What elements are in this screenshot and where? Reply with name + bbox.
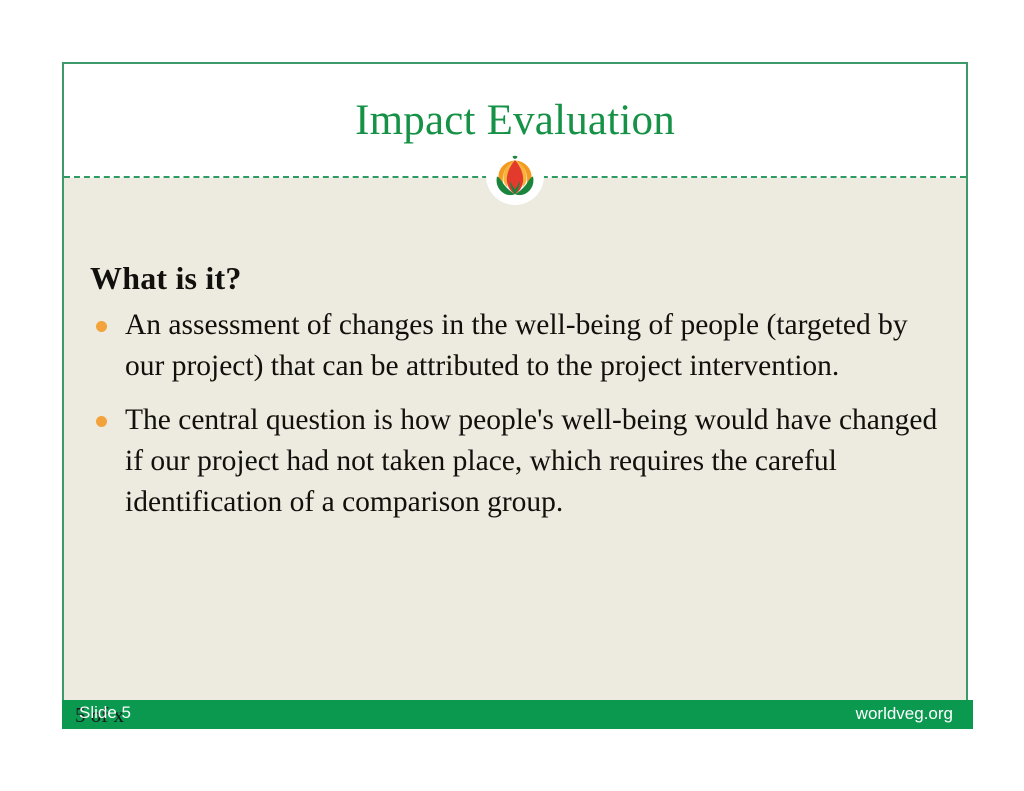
footer-bar: 5 of x Slide 5 worldveg.org <box>62 700 973 729</box>
body-panel: What is it? An assessment of changes in … <box>64 178 966 724</box>
slide-frame: Impact Evaluation What is it? An assessm… <box>62 62 968 726</box>
list-item: An assessment of changes in the well-bei… <box>90 305 940 388</box>
content-heading: What is it? <box>90 260 940 297</box>
content-area: What is it? An assessment of changes in … <box>90 260 940 535</box>
bullet-list: An assessment of changes in the well-bei… <box>90 305 940 523</box>
page-title: Impact Evaluation <box>355 99 675 142</box>
footer-website-label: worldveg.org <box>856 705 953 722</box>
bullet-dot-icon <box>96 416 107 427</box>
worldveg-tulip-logo-icon <box>486 147 544 205</box>
list-item-text: An assessment of changes in the well-bei… <box>125 309 908 382</box>
footer-slide-label: Slide 5 <box>79 704 131 721</box>
bullet-dot-icon <box>96 321 107 332</box>
list-item-text: The central question is how people's wel… <box>125 404 937 519</box>
slide-canvas: Impact Evaluation What is it? An assessm… <box>0 0 1024 791</box>
list-item: The central question is how people's wel… <box>90 400 940 524</box>
